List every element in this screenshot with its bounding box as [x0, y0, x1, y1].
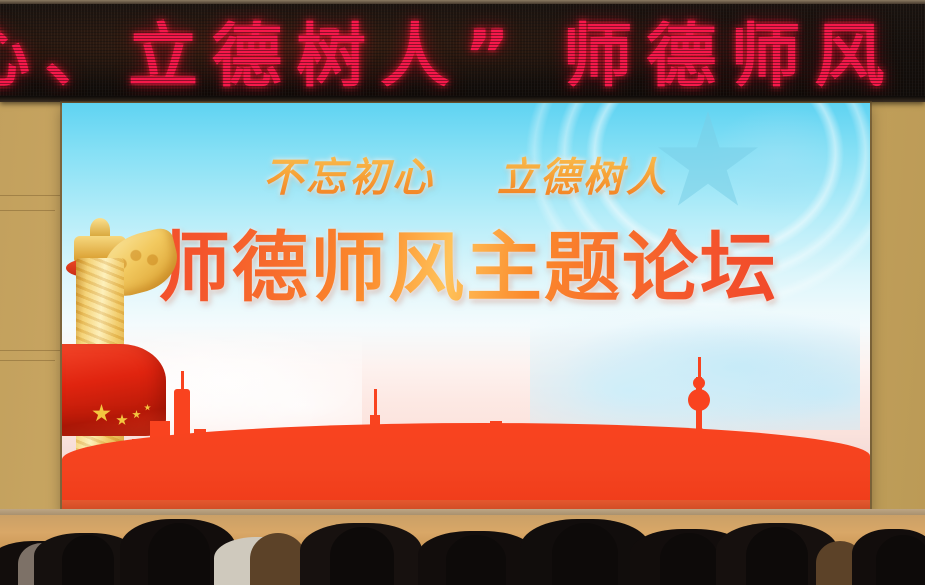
backdrop-main-title: 师德师风主题论坛	[62, 206, 870, 316]
led-bottom-trim	[0, 96, 925, 102]
audience-head	[876, 535, 925, 585]
overhead-led-banner: 心、立德树人” 师德师风	[0, 0, 925, 101]
stage-photo-scene: 心、立德树人” 师德师风 不忘初心 立德树人 师德师风主题论坛 月10	[0, 0, 925, 585]
audience-head	[660, 533, 718, 585]
audience-head	[746, 527, 808, 585]
subtitle-part-right: 立德树人	[497, 155, 669, 201]
audience-head	[446, 535, 506, 585]
led-panel: 心、立德树人” 师德师风	[0, 4, 925, 96]
audience-head	[552, 523, 618, 585]
led-banner-text: 心、立德树人” 师德师风	[0, 6, 925, 94]
audience-head	[148, 523, 210, 585]
audience-head	[62, 535, 114, 585]
audience-head	[330, 527, 394, 585]
audience-head	[250, 533, 306, 585]
projection-backdrop: 不忘初心 立德树人 师德师风主题论坛 月10	[62, 103, 870, 515]
backdrop-subtitle: 不忘初心 立德树人	[62, 145, 870, 203]
subtitle-part-left: 不忘初心	[263, 155, 435, 201]
city-skyline-silhouette	[62, 365, 870, 515]
